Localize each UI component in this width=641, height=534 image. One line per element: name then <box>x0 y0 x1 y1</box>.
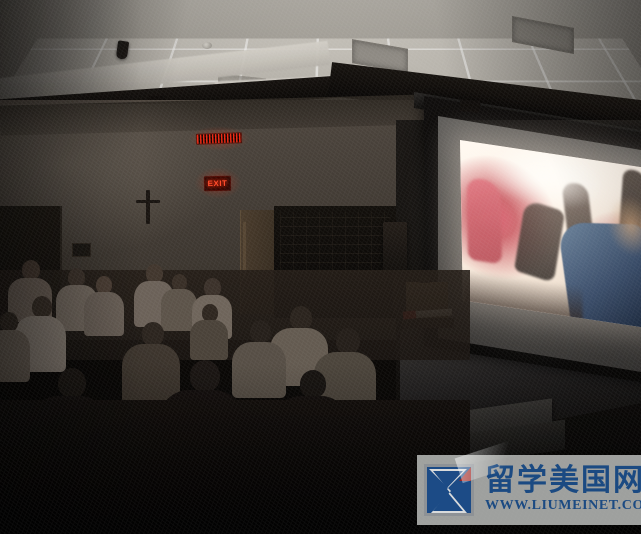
watermark-site-name: 留学美国网 <box>485 466 641 497</box>
watermark: 留学美国网 WWW.LIUMEINET.COM <box>417 455 641 525</box>
led-dot-matrix <box>197 133 241 144</box>
floor <box>0 400 470 534</box>
photo-canvas: EXIT <box>0 0 641 534</box>
projector-mount-icon <box>460 99 481 113</box>
wall-cross-icon <box>136 200 160 203</box>
projected-video-image <box>460 140 641 329</box>
led-marquee-sign <box>196 132 242 145</box>
liumeinet-logo-icon <box>421 461 477 519</box>
exit-sign: EXIT <box>204 176 231 191</box>
wall-cross-icon <box>146 190 150 224</box>
projection-warm-highlight <box>607 192 641 259</box>
exit-sign-label: EXIT <box>208 179 228 187</box>
watermark-text: 留学美国网 WWW.LIUMEINET.COM <box>485 466 641 514</box>
watermark-site-url: WWW.LIUMEINET.COM <box>485 498 641 514</box>
